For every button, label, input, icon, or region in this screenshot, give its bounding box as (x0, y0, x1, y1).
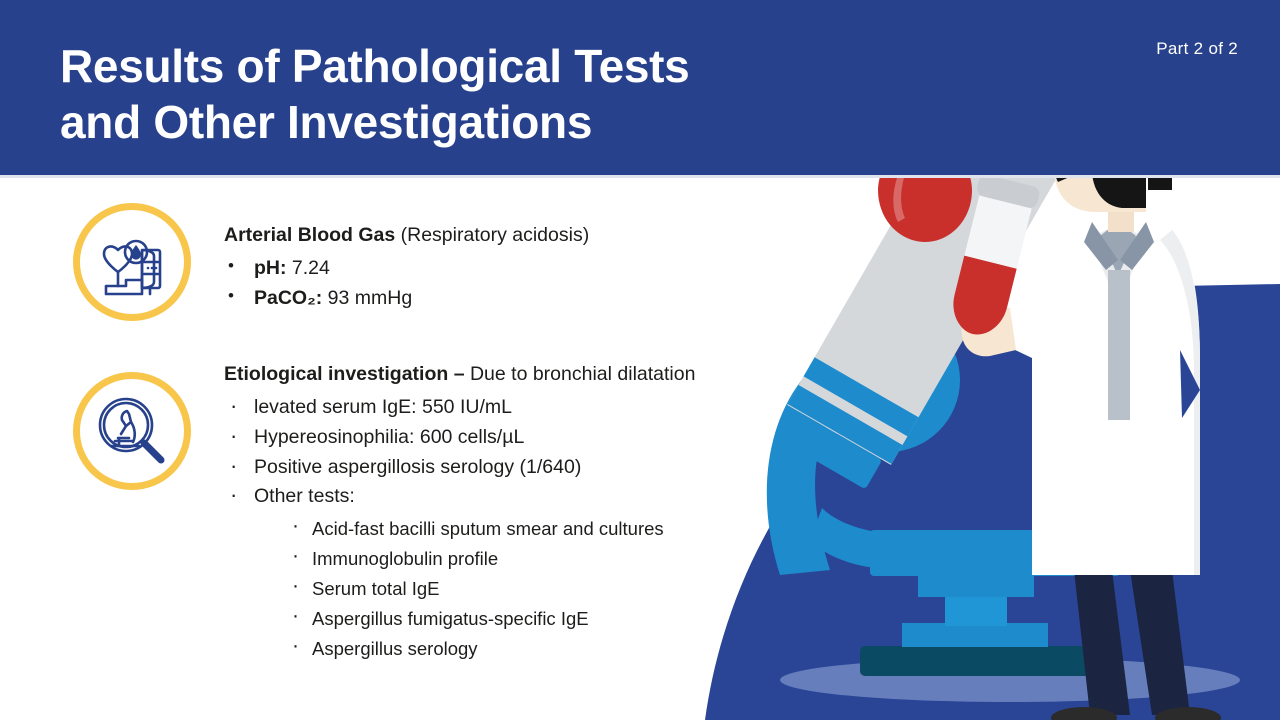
microscope-magnifier-icon (95, 394, 169, 468)
list-item: Hypereosinophilia: 600 cells/µL (224, 423, 784, 453)
section-heading: Arterial Blood Gas (Respiratory acidosis… (224, 222, 744, 248)
section-heading-rest: (Respiratory acidosis) (395, 224, 589, 246)
list-item: levated serum IgE: 550 IU/mL (224, 393, 784, 423)
section-heading-bold: Arterial Blood Gas (224, 224, 395, 246)
bullet-list: levated serum IgE: 550 IU/mL Hypereosino… (224, 393, 784, 663)
section-arterial-blood-gas: Arterial Blood Gas (Respiratory acidosis… (224, 222, 744, 314)
list-item: pH: 7.24 (224, 254, 744, 284)
section-heading: Etiological investigation – Due to bronc… (224, 361, 784, 387)
header-underline (0, 175, 1280, 178)
sub-list-item: Aspergillus fumigatus-specific IgE (290, 604, 784, 634)
list-item-value: 7.24 (287, 257, 330, 279)
list-item: Positive aspergillosis serology (1/640) (224, 453, 784, 483)
section-heading-rest: Due to bronchial dilatation (465, 363, 696, 385)
icon-ring-etiological-investigation (73, 372, 191, 490)
list-item-value: levated serum IgE: 550 IU/mL (254, 396, 512, 418)
bullet-list: pH: 7.24 PaCO₂: 93 mmHg (224, 254, 744, 313)
icon-ring-arterial-blood-gas (73, 203, 191, 321)
list-item: Other tests: Acid-fast bacilli sputum sm… (224, 482, 784, 663)
sub-list-item: Immunoglobulin profile (290, 544, 784, 574)
list-item-value: Hypereosinophilia: 600 cells/µL (254, 426, 524, 448)
blood-monitor-icon (96, 226, 168, 298)
list-item-value: Other tests: (254, 485, 355, 507)
sub-list-item: Serum total IgE (290, 574, 784, 604)
part-indicator-label: Part 2 of 2 (1156, 39, 1238, 59)
sub-list-item: Acid-fast bacilli sputum smear and cultu… (290, 514, 784, 544)
list-item-value: 93 mmHg (322, 287, 412, 309)
page-title: Results of Pathological Tests and Other … (60, 38, 840, 150)
slide-canvas: Results of Pathological Tests and Other … (0, 0, 1280, 720)
list-item: PaCO₂: 93 mmHg (224, 284, 744, 314)
section-heading-bold: Etiological investigation – (224, 363, 465, 385)
section-etiological-investigation: Etiological investigation – Due to bronc… (224, 361, 784, 664)
sub-bullet-list: Acid-fast bacilli sputum smear and cultu… (254, 514, 784, 664)
list-item-value: Positive aspergillosis serology (1/640) (254, 456, 581, 478)
list-item-label: pH: (254, 257, 287, 279)
sub-list-item: Aspergillus serology (290, 634, 784, 664)
list-item-label: PaCO₂: (254, 287, 322, 309)
